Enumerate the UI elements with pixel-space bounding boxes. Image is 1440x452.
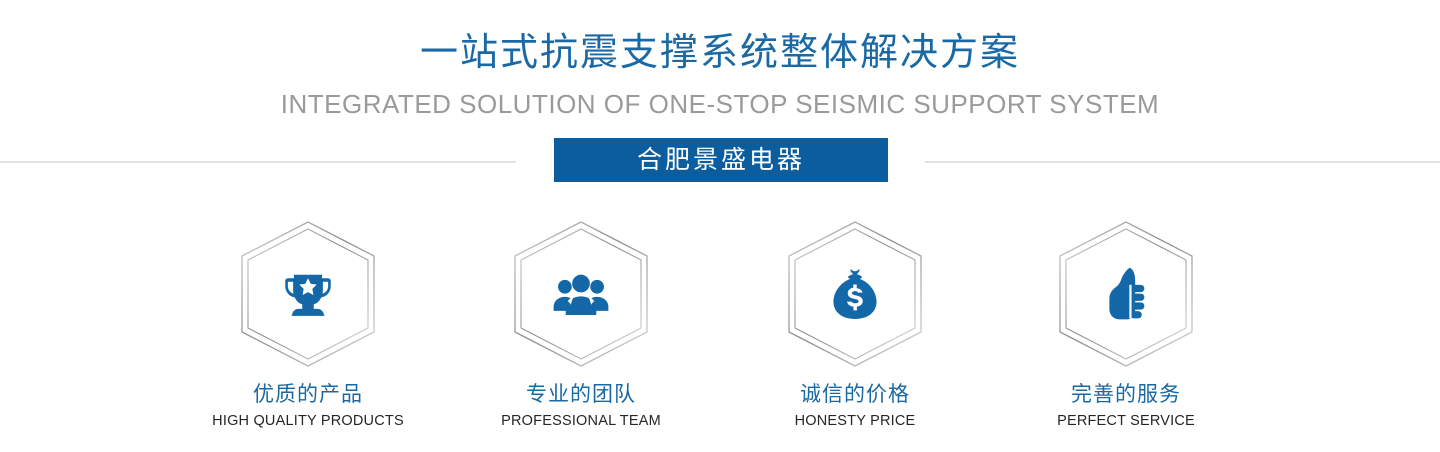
thumbs-up-icon <box>1006 216 1246 372</box>
feature-label-chinese: 专业的团队 <box>461 382 701 408</box>
brand-row: 合肥景盛电器 <box>0 138 1440 186</box>
money-bag-icon <box>735 216 975 372</box>
feature-list: 优质的产品 HIGH QUALITY PRODUCTS <box>0 216 1440 436</box>
feature-label-english: HONESTY PRICE <box>735 412 975 430</box>
feature-label-chinese: 诚信的价格 <box>735 382 975 408</box>
feature-item-professional-team[interactable]: 专业的团队 PROFESSIONAL TEAM <box>461 216 701 430</box>
feature-label-english: HIGH QUALITY PRODUCTS <box>188 412 428 430</box>
divider-left <box>0 161 516 163</box>
brand-badge: 合肥景盛电器 <box>554 138 888 182</box>
promo-banner-page: 一站式抗震支撑系统整体解决方案 INTEGRATED SOLUTION OF O… <box>0 0 1440 452</box>
feature-label-english: PROFESSIONAL TEAM <box>461 412 701 430</box>
feature-label-chinese: 完善的服务 <box>1006 382 1246 408</box>
hexagon-frame <box>1006 216 1246 372</box>
feature-item-perfect-service[interactable]: 完善的服务 PERFECT SERVICE <box>1006 216 1246 430</box>
feature-label-english: PERFECT SERVICE <box>1006 412 1246 430</box>
page-title-chinese: 一站式抗震支撑系统整体解决方案 <box>0 30 1440 76</box>
feature-item-honesty-price[interactable]: 诚信的价格 HONESTY PRICE <box>735 216 975 430</box>
page-subtitle-english: INTEGRATED SOLUTION OF ONE-STOP SEISMIC … <box>0 88 1440 120</box>
divider-right <box>925 161 1440 163</box>
feature-item-high-quality-products[interactable]: 优质的产品 HIGH QUALITY PRODUCTS <box>188 216 428 430</box>
hexagon-frame <box>188 216 428 372</box>
hexagon-frame <box>461 216 701 372</box>
feature-label-chinese: 优质的产品 <box>188 382 428 408</box>
brand-name: 合肥景盛电器 <box>637 138 805 182</box>
trophy-icon <box>188 216 428 372</box>
people-group-icon <box>461 216 701 372</box>
hexagon-frame <box>735 216 975 372</box>
